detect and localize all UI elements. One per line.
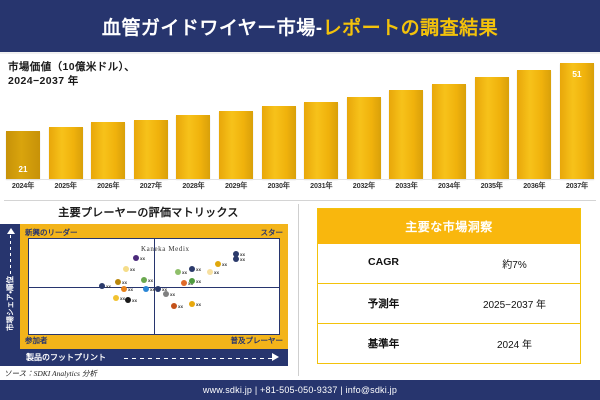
page-title-accent: レポートの調査結果 bbox=[323, 18, 499, 39]
x-axis-tick-labels: 2024年2025年2026年2027年2028年2029年2030年2031年… bbox=[6, 181, 594, 195]
insight-value: 2025−2037 年 bbox=[449, 284, 580, 323]
insights-table: 主要な市場洞察 CAGR約7%予測年2025−2037 年基準年2024 年 bbox=[317, 208, 581, 364]
matrix-data-point-label: xx bbox=[196, 267, 201, 272]
insight-key: 基準年 bbox=[318, 324, 449, 363]
bar bbox=[347, 97, 381, 179]
matrix-data-point bbox=[189, 266, 195, 272]
matrix-data-point bbox=[171, 303, 177, 309]
matrix-data-point bbox=[207, 269, 213, 275]
x-axis-tick: 2031年 bbox=[304, 181, 338, 195]
competitor-matrix-panel: 主要プレーヤーの評価マトリックス 市場シェア・順位 新興のリーダー スター 参加… bbox=[0, 202, 297, 380]
footer-contact: www.sdki.jp | +81-505-050-9337 | info@sd… bbox=[203, 385, 397, 395]
matrix-data-point-label: xx bbox=[128, 287, 133, 292]
quadrant-label-participant: 参加者 bbox=[25, 335, 48, 346]
infographic-page: 血管ガイドワイヤー市場-レポートの調査結果 市場価値（10億米ドル）、 2024… bbox=[0, 0, 600, 400]
x-axis-tick: 2026年 bbox=[91, 181, 125, 195]
matrix-data-point bbox=[125, 297, 131, 303]
insight-row: 基準年2024 年 bbox=[318, 323, 580, 363]
matrix-data-point-label: xx bbox=[122, 280, 127, 285]
matrix-frame: 新興のリーダー スター 参加者 普及プレーヤー Kaneka Medix xxx… bbox=[20, 224, 288, 349]
bar bbox=[219, 111, 253, 179]
matrix-data-point bbox=[215, 261, 221, 267]
matrix-data-point bbox=[99, 283, 105, 289]
bar bbox=[304, 102, 338, 179]
bar-column bbox=[347, 97, 381, 179]
bar bbox=[134, 120, 168, 179]
bar-column bbox=[134, 120, 168, 179]
bar: 21 bbox=[6, 131, 40, 179]
insight-row: 予測年2025−2037 年 bbox=[318, 283, 580, 323]
bar bbox=[389, 90, 423, 179]
bar-column bbox=[176, 115, 210, 179]
insight-key: 予測年 bbox=[318, 284, 449, 323]
source-note: ソース：SDKI Analytics 分析 bbox=[4, 368, 97, 379]
matrix-scatter-plot: Kaneka Medix xxxxxxxxxxxxxxxxxxxxxxxxxxx… bbox=[28, 238, 280, 335]
matrix-data-point bbox=[189, 301, 195, 307]
x-axis-tick: 2036年 bbox=[517, 181, 551, 195]
matrix-data-point-label: xx bbox=[140, 256, 145, 261]
matrix-y-axis: 市場シェア・順位 bbox=[0, 224, 20, 366]
x-axis-tick: 2028年 bbox=[176, 181, 210, 195]
matrix-data-point-label: xx bbox=[222, 262, 227, 267]
matrix-y-axis-label: 市場シェア・順位 bbox=[5, 268, 16, 340]
matrix-data-point-label: xx bbox=[196, 279, 201, 284]
matrix-data-point-label: xx bbox=[214, 270, 219, 275]
key-insights-panel: 主要な市場洞察 CAGR約7%予測年2025−2037 年基準年2024 年 bbox=[305, 206, 593, 364]
page-header: 血管ガイドワイヤー市場-レポートの調査結果 bbox=[0, 0, 600, 52]
bar bbox=[432, 84, 466, 179]
matrix-data-point bbox=[233, 256, 239, 262]
bar-column bbox=[432, 84, 466, 179]
matrix-data-point bbox=[155, 286, 161, 292]
bar-column bbox=[389, 90, 423, 179]
matrix-data-point bbox=[113, 295, 119, 301]
section-divider bbox=[4, 200, 596, 201]
insights-heading: 主要な市場洞察 bbox=[318, 209, 580, 244]
matrix-data-point-label: xx bbox=[148, 278, 153, 283]
bar bbox=[49, 127, 83, 179]
bar bbox=[91, 122, 125, 179]
matrix-data-point bbox=[141, 277, 147, 283]
insight-row: CAGR約7% bbox=[318, 244, 580, 283]
bar-column bbox=[475, 77, 509, 179]
bar-column: 21 bbox=[6, 131, 40, 179]
bar-column: 51 bbox=[560, 63, 594, 179]
matrix-data-point bbox=[175, 269, 181, 275]
quadrant-label-penetrating-player: 普及プレーヤー bbox=[231, 335, 284, 346]
page-title: 血管ガイドワイヤー市場-レポートの調査結果 bbox=[102, 13, 498, 40]
matrix-data-point bbox=[123, 266, 129, 272]
bar-value-label: 51 bbox=[560, 69, 594, 79]
bar-value-label: 21 bbox=[6, 165, 40, 174]
matrix-data-point-label: xx bbox=[196, 302, 201, 307]
matrix-data-point-label: xx bbox=[178, 304, 183, 309]
matrix-data-point bbox=[133, 255, 139, 261]
x-axis-tick: 2032年 bbox=[347, 181, 381, 195]
market-value-chart: 市場価値（10億米ドル）、 2024−2037 年 2151 2024年2025… bbox=[0, 54, 600, 200]
panel-divider bbox=[298, 204, 299, 376]
quadrant-label-star: スター bbox=[261, 227, 284, 238]
matrix-data-point-label: xx bbox=[182, 270, 187, 275]
bar bbox=[517, 70, 551, 179]
matrix-data-point bbox=[143, 286, 149, 292]
matrix-data-point bbox=[121, 286, 127, 292]
bar bbox=[176, 115, 210, 179]
x-axis-dashes bbox=[124, 358, 272, 359]
bar-column bbox=[219, 111, 253, 179]
matrix-x-axis: 製品のフットプリント bbox=[20, 349, 288, 366]
x-axis-tick: 2029年 bbox=[219, 181, 253, 195]
insight-value: 2024 年 bbox=[449, 324, 580, 363]
matrix-data-point bbox=[163, 291, 169, 297]
matrix-data-point-label: xx bbox=[240, 257, 245, 262]
matrix-data-point-label: xx bbox=[170, 292, 175, 297]
bar-column bbox=[49, 127, 83, 179]
matrix-brand-label: Kaneka Medix bbox=[141, 245, 190, 253]
bar-column bbox=[262, 106, 296, 179]
matrix-data-point bbox=[115, 279, 121, 285]
x-axis-tick: 2030年 bbox=[262, 181, 296, 195]
x-axis-tick: 2034年 bbox=[432, 181, 466, 195]
chart-plot-area: 2151 bbox=[6, 54, 594, 179]
bar-column bbox=[91, 122, 125, 179]
arrow-up-icon bbox=[7, 228, 15, 234]
matrix-title: 主要プレーヤーの評価マトリックス bbox=[0, 204, 297, 220]
bar: 51 bbox=[560, 63, 594, 179]
insight-key: CAGR bbox=[318, 244, 449, 283]
chart-baseline bbox=[6, 179, 594, 180]
insights-rows: CAGR約7%予測年2025−2037 年基準年2024 年 bbox=[318, 244, 580, 363]
x-axis-tick: 2037年 bbox=[560, 181, 594, 195]
insight-value: 約7% bbox=[449, 244, 580, 283]
x-axis-tick: 2024年 bbox=[6, 181, 40, 195]
bar-column bbox=[517, 70, 551, 179]
matrix-data-point bbox=[189, 278, 195, 284]
quadrant-label-emerging-leader: 新興のリーダー bbox=[25, 227, 78, 238]
bar-series: 2151 bbox=[6, 54, 594, 179]
bar-column bbox=[304, 102, 338, 179]
x-axis-tick: 2025年 bbox=[49, 181, 83, 195]
page-footer: www.sdki.jp | +81-505-050-9337 | info@sd… bbox=[0, 380, 600, 400]
x-axis-tick: 2035年 bbox=[475, 181, 509, 195]
bar bbox=[262, 106, 296, 179]
matrix-data-point-label: xx bbox=[132, 298, 137, 303]
matrix-data-point-label: xx bbox=[106, 284, 111, 289]
bar bbox=[475, 77, 509, 179]
x-axis-tick: 2027年 bbox=[134, 181, 168, 195]
arrow-right-icon bbox=[272, 353, 279, 361]
matrix-data-point bbox=[181, 280, 187, 286]
x-axis-tick: 2033年 bbox=[389, 181, 423, 195]
matrix-x-axis-label: 製品のフットプリント bbox=[26, 352, 106, 363]
page-title-main: 血管ガイドワイヤー市場- bbox=[102, 18, 323, 39]
matrix-data-point-label: xx bbox=[130, 267, 135, 272]
